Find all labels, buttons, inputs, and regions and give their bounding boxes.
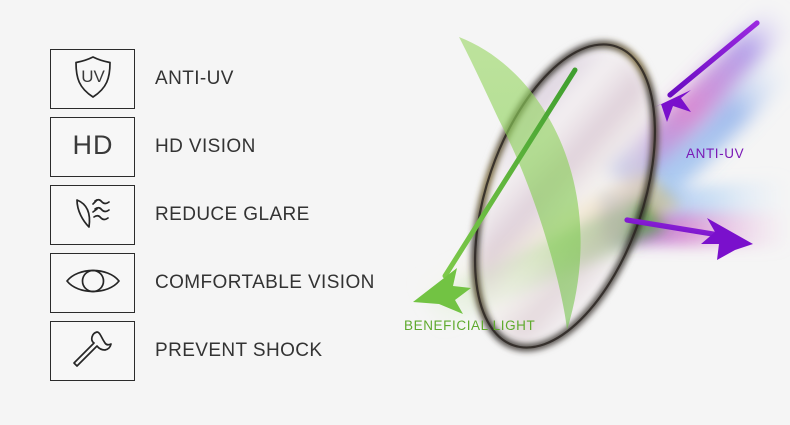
feature-icon-box <box>50 321 135 381</box>
feature-row-anti-uv: UV ANTI-UV <box>50 45 410 113</box>
feature-label: ANTI-UV <box>155 68 234 90</box>
hd-text-icon: HD <box>67 123 119 172</box>
lens-diagram <box>395 0 790 425</box>
feature-label: HD VISION <box>155 136 256 158</box>
feature-list: UV ANTI-UV HD HD VISION <box>50 45 410 385</box>
feature-row-hd-vision: HD HD VISION <box>50 113 410 181</box>
feature-row-comfortable-vision: COMFORTABLE VISION <box>50 249 410 317</box>
product-feature-banner: UV ANTI-UV HD HD VISION <box>0 0 790 425</box>
annotation-beneficial-light: BENEFICIAL LIGHT <box>404 318 535 333</box>
feature-label: REDUCE GLARE <box>155 204 310 226</box>
lens-diagram-svg <box>395 0 790 425</box>
glare-rays-icon <box>65 191 121 240</box>
feature-icon-box <box>50 253 135 313</box>
feature-row-reduce-glare: REDUCE GLARE <box>50 181 410 249</box>
svg-text:HD: HD <box>72 130 113 160</box>
feature-row-prevent-shock: PREVENT SHOCK <box>50 317 410 385</box>
feature-label: PREVENT SHOCK <box>155 340 322 362</box>
annotation-anti-uv: ANTI-UV <box>686 146 744 161</box>
feature-label: COMFORTABLE VISION <box>155 272 375 294</box>
feature-icon-box <box>50 185 135 245</box>
feature-icon-box: HD <box>50 117 135 177</box>
uv-shield-icon: UV <box>71 54 115 105</box>
svg-text:UV: UV <box>81 67 105 86</box>
feature-icon-box: UV <box>50 49 135 109</box>
hammer-icon <box>68 327 118 376</box>
eye-icon <box>64 264 122 303</box>
